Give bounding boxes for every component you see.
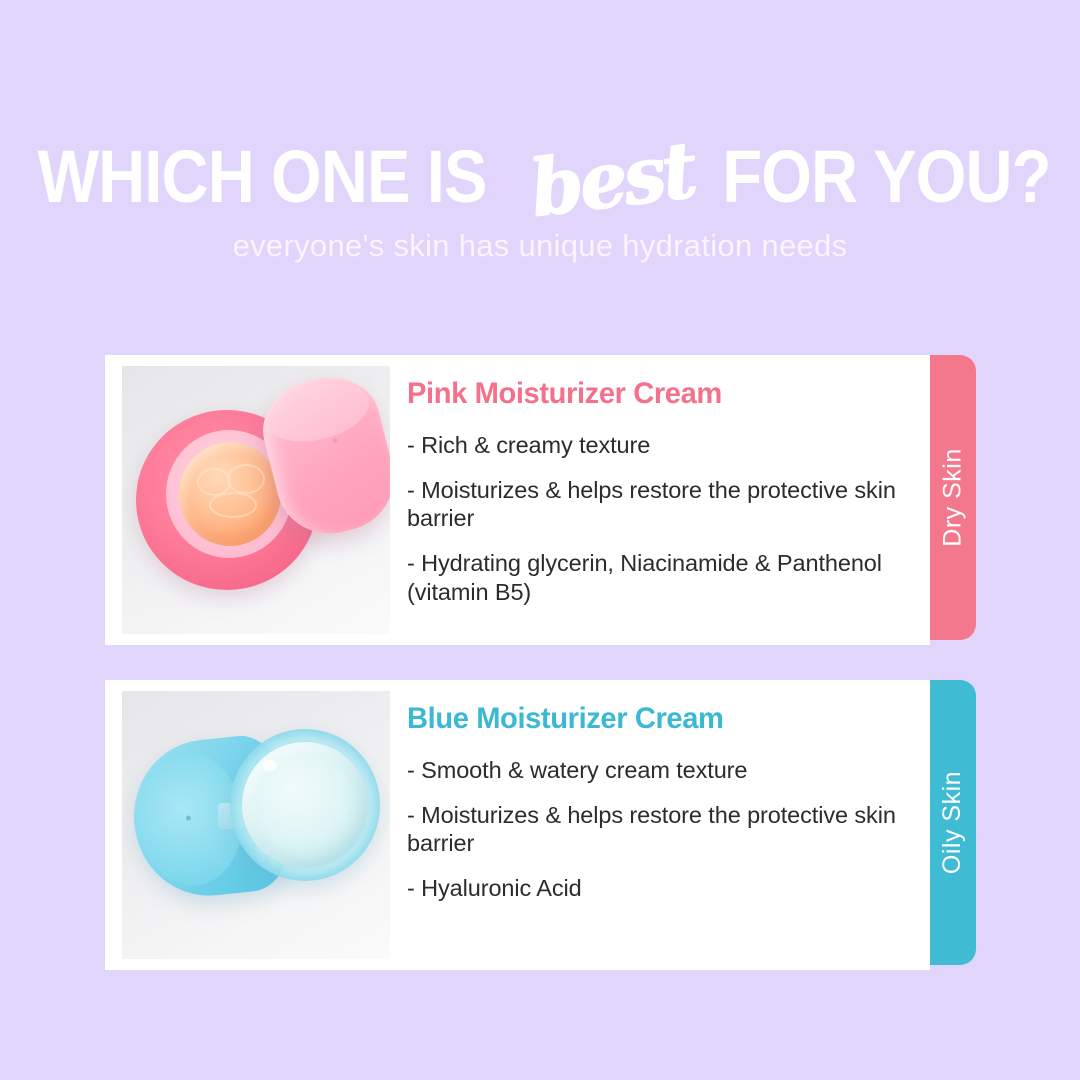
- headline-part2: FOR YOU?: [722, 140, 1050, 214]
- list-item: - Rich & creamy texture: [407, 431, 914, 460]
- pink-card-bullet-list: - Rich & creamy texture - Moisturizes & …: [407, 431, 914, 606]
- product-card-blue[interactable]: Blue Moisturizer Cream - Smooth & watery…: [105, 680, 930, 970]
- blue-card-title: Blue Moisturizer Cream: [407, 704, 899, 734]
- skin-type-tab-oily[interactable]: Oily Skin: [930, 680, 976, 965]
- pink-card-body: Pink Moisturizer Cream - Rich & creamy t…: [390, 355, 930, 606]
- header-section: WHICH ONE ISbestFOR YOU? everyone's skin…: [0, 0, 1080, 330]
- pink-jar-cream-icon: [179, 442, 281, 546]
- headline-script-word: best: [526, 131, 698, 228]
- list-item: - Smooth & watery cream texture: [407, 756, 914, 785]
- product-card-pink[interactable]: Pink Moisturizer Cream - Rich & creamy t…: [105, 355, 930, 645]
- pink-jar-lid-highlight-icon: [261, 374, 375, 452]
- page-headline: WHICH ONE ISbestFOR YOU?: [0, 137, 1080, 215]
- skin-type-tab-dry-label: Dry Skin: [939, 448, 968, 546]
- blue-jar-cream-icon: [242, 742, 368, 868]
- list-item: - Moisturizes & helps restore the protec…: [407, 476, 914, 533]
- skin-type-tab-dry[interactable]: Dry Skin: [930, 355, 976, 640]
- page-subheadline: everyone's skin has unique hydration nee…: [0, 228, 1080, 264]
- pink-card-title: Pink Moisturizer Cream: [407, 379, 899, 409]
- cream-bubble-icon: [262, 760, 277, 771]
- cream-swirl-icon: [209, 492, 257, 518]
- list-item: - Hydrating glycerin, Niacinamide & Pant…: [407, 549, 914, 606]
- cream-swirl-icon: [227, 464, 265, 494]
- blue-jar-body-icon: [230, 729, 380, 881]
- list-item: - Moisturizes & helps restore the protec…: [407, 801, 914, 858]
- blue-moisturizer-jar-photo: [122, 691, 390, 959]
- skin-type-tab-oily-label: Oily Skin: [939, 771, 968, 874]
- list-item: - Hyaluronic Acid: [407, 874, 914, 903]
- blue-card-body: Blue Moisturizer Cream - Smooth & watery…: [390, 680, 930, 903]
- blue-jar-lid-dot-icon: [186, 815, 191, 820]
- pink-jar-lid-dot-icon: [332, 438, 338, 444]
- blue-card-bullet-list: - Smooth & watery cream texture - Moistu…: [407, 756, 914, 903]
- pink-moisturizer-jar-photo: [122, 366, 390, 634]
- headline-part1: WHICH ONE IS: [38, 140, 487, 214]
